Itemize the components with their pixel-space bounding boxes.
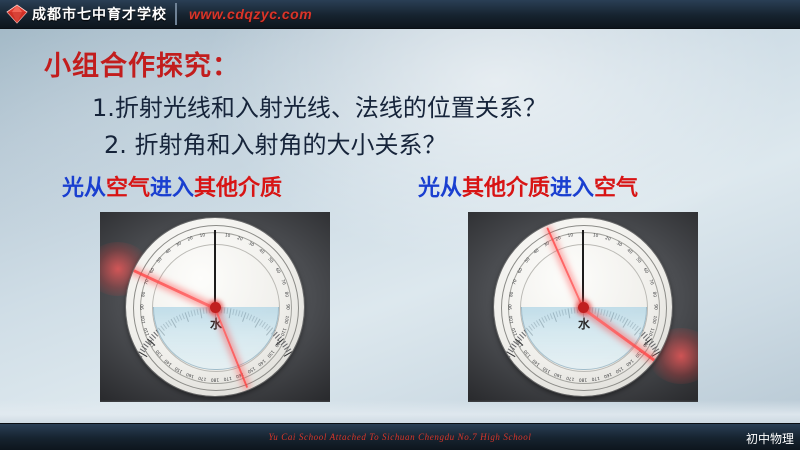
caption-left: 光从空气进入其他介质 <box>62 170 282 202</box>
protractor-number: 180 <box>579 377 587 382</box>
protractor-number: 10 <box>567 233 573 239</box>
footer-bar: Yu Cai School Attached To Sichuan Chengd… <box>0 423 800 450</box>
caption-left-part-0: 光从 <box>62 176 106 201</box>
water-label-right: 水 <box>578 315 590 332</box>
protractor-number: 160 <box>186 371 195 379</box>
protractor-number: 80 <box>651 291 657 297</box>
protractor-number: 120 <box>273 338 281 348</box>
protractor-number: 10 <box>224 233 230 239</box>
protractor-number: 40 <box>626 248 633 255</box>
protractor-number: 30 <box>247 241 254 248</box>
protractor-number: 70 <box>279 279 286 286</box>
protractor-number: 110 <box>512 327 520 336</box>
protractor-number: 120 <box>148 338 156 348</box>
protractor-right: 0102030405060708090100110120130140150160… <box>494 218 672 396</box>
caption-right: 光从其他介质进入空气 <box>418 170 638 202</box>
experiment-photo-air-to-water: 0102030405060708090100110120130140150160… <box>100 212 330 402</box>
protractor-number: 170 <box>566 375 575 381</box>
protractor-number: 70 <box>647 279 654 286</box>
protractor-number: 110 <box>144 327 152 336</box>
footer-subject: 初中物理 <box>746 430 794 447</box>
protractor-number: 50 <box>156 257 163 264</box>
school-name: 成都市七中育才学校 <box>32 4 167 24</box>
protractor-number: 170 <box>198 375 207 381</box>
caption-left-part-3: 其他介质 <box>194 176 282 201</box>
protractor-number: 120 <box>516 338 524 348</box>
protractor-number: 130 <box>155 349 164 358</box>
question-1: 1.折射光线和入射光线、法线的位置关系？ <box>92 88 547 123</box>
protractor-number: 140 <box>625 358 634 367</box>
protractor-number: 20 <box>187 236 194 243</box>
protractor-number: 20 <box>555 236 562 243</box>
header-bar: 成都市七中育才学校 www.cdqzyc.com <box>0 0 800 29</box>
protractor-number: 150 <box>174 365 184 373</box>
protractor-number: 140 <box>257 358 266 367</box>
protractor-number: 60 <box>274 267 281 274</box>
protractor-number: 80 <box>509 291 515 297</box>
page-title: 小组合作探究： <box>44 44 240 83</box>
diamond-logo-icon <box>6 4 28 24</box>
protractor-number: 60 <box>642 267 649 274</box>
protractor-number: 30 <box>175 241 182 248</box>
protractor-number: 90 <box>285 304 290 309</box>
decorative-strip <box>0 400 800 424</box>
protractor-number: 130 <box>523 349 532 358</box>
protractor-number: 40 <box>165 248 172 255</box>
protractor-number: 80 <box>141 291 147 297</box>
caption-left-part-1: 空气 <box>106 176 150 201</box>
footer-motto: Yu Cai School Attached To Sichuan Chengd… <box>269 432 532 442</box>
caption-right-part-0: 光从 <box>418 176 462 201</box>
protractor-number: 100 <box>509 315 515 324</box>
protractor-number: 60 <box>517 267 524 274</box>
protractor-number: 40 <box>258 248 265 255</box>
protractor-number: 90 <box>141 304 146 309</box>
protractor-number: 100 <box>651 315 657 324</box>
incidence-point-right <box>578 302 589 313</box>
normal-line-left <box>214 230 216 307</box>
protractor-number: 60 <box>149 267 156 274</box>
protractor-number: 160 <box>603 371 612 379</box>
protractor-number: 180 <box>211 377 219 382</box>
school-name-box: 成都市七中育才学校 <box>32 3 177 25</box>
incidence-point-left <box>210 302 221 313</box>
protractor-number: 160 <box>554 371 563 379</box>
protractor-number: 10 <box>199 233 205 239</box>
protractor-number: 10 <box>592 233 598 239</box>
protractor-number: 170 <box>223 375 232 381</box>
protractor-number: 150 <box>614 365 624 373</box>
caption-right-part-1: 其他介质 <box>462 176 550 201</box>
protractor-number: 70 <box>512 279 519 286</box>
slide: 成都市七中育才学校 www.cdqzyc.com 小组合作探究： 1.折射光线和… <box>0 0 800 450</box>
normal-line-right <box>582 230 584 307</box>
protractor-number: 100 <box>283 315 289 324</box>
protractor-number: 150 <box>542 365 552 373</box>
protractor-number: 50 <box>634 257 641 264</box>
protractor-number: 150 <box>246 365 256 373</box>
protractor-left: 0102030405060708090100110120130140150160… <box>126 218 304 396</box>
protractor-number: 30 <box>543 241 550 248</box>
protractor-number: 100 <box>141 315 147 324</box>
caption-left-part-2: 进入 <box>150 176 194 201</box>
protractor-number: 20 <box>236 236 243 243</box>
caption-right-part-2: 进入 <box>550 176 594 201</box>
experiment-photo-water-to-air: 0102030405060708090100110120130140150160… <box>468 212 698 402</box>
protractor-number: 110 <box>647 327 655 336</box>
protractor-number: 30 <box>615 241 622 248</box>
protractor-number: 120 <box>641 338 649 348</box>
protractor-number: 20 <box>604 236 611 243</box>
protractor-number: 170 <box>591 375 600 381</box>
protractor-number: 50 <box>524 257 531 264</box>
protractor-number: 80 <box>283 291 289 297</box>
protractor-number: 90 <box>653 304 658 309</box>
protractor-number: 130 <box>266 349 275 358</box>
protractor-number: 140 <box>532 358 541 367</box>
site-url[interactable]: www.cdqzyc.com <box>189 6 312 22</box>
question-2: 2. 折射角和入射角的大小关系？ <box>104 125 447 160</box>
caption-row: 光从空气进入其他介质 光从其他介质进入空气 <box>0 170 800 202</box>
protractor-number: 50 <box>266 257 273 264</box>
protractor-number: 140 <box>164 358 173 367</box>
logo-area: 成都市七中育才学校 www.cdqzyc.com <box>0 0 312 28</box>
protractor-number: 40 <box>533 248 540 255</box>
protractor-number: 110 <box>279 327 287 336</box>
caption-right-part-3: 空气 <box>594 176 638 201</box>
protractor-number: 90 <box>509 304 514 309</box>
